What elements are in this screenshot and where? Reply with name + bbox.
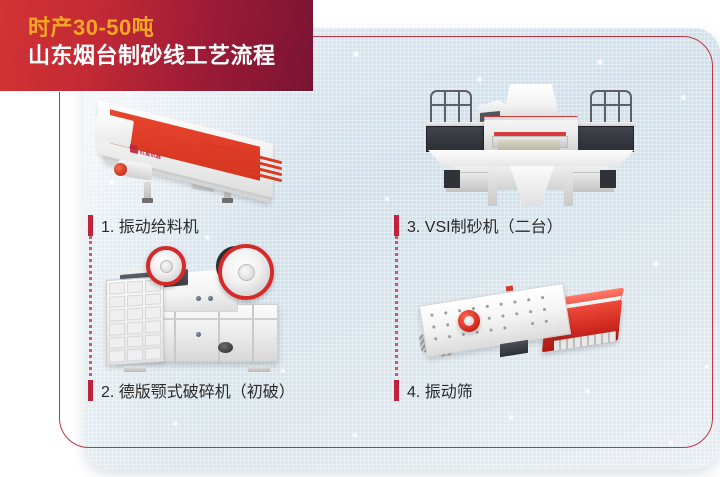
grid-cell xyxy=(127,280,143,293)
grid-cell xyxy=(109,282,125,295)
grid-cell xyxy=(145,348,161,361)
screen-bolt xyxy=(446,323,449,326)
crusher-foot-pad xyxy=(124,366,146,372)
vsi-platform-right xyxy=(576,126,634,152)
screen-bolt xyxy=(531,322,534,325)
crusher-bolt xyxy=(196,296,201,301)
screen-bolt xyxy=(503,326,506,329)
screen-bolt xyxy=(499,303,502,306)
screen-bolt xyxy=(515,312,518,315)
vsi-leg xyxy=(564,166,573,206)
screen-bolt xyxy=(529,310,532,313)
rail-post xyxy=(604,92,606,126)
screen-bolt xyxy=(541,296,544,299)
item-label-2: 2. 德版颚式破碎机（初破） xyxy=(88,378,295,402)
item-label-4: 4. 振动筛 xyxy=(394,378,473,402)
screen-bolt xyxy=(501,314,504,317)
item-label-1: 1. 振动给料机 xyxy=(88,213,199,237)
grid-cell xyxy=(127,294,143,307)
screen-bolt xyxy=(434,337,437,340)
screen-bolt xyxy=(444,311,447,314)
screen-bolt xyxy=(432,325,435,328)
crusher-bolt xyxy=(196,332,201,337)
screen-bolt xyxy=(472,307,475,310)
screen-bolt xyxy=(430,313,433,316)
machine-image-vibrating-screen xyxy=(418,272,634,374)
screen-bolt xyxy=(486,305,489,308)
screen-motor-hub xyxy=(464,316,474,326)
crusher-flywheel-hub xyxy=(238,264,255,281)
crusher-base-rib xyxy=(218,304,220,362)
screen-bolt xyxy=(489,328,492,331)
grid-cell xyxy=(109,336,125,349)
crusher-base-rib xyxy=(174,304,176,362)
rail-post xyxy=(618,92,620,126)
banner-capacity-text: 时产30-50吨 xyxy=(28,14,313,42)
grid-cell xyxy=(109,350,125,363)
brand-logo-mark xyxy=(130,144,138,154)
grid-cell xyxy=(145,320,161,333)
screen-bolt xyxy=(462,333,465,336)
grid-cell xyxy=(145,293,161,306)
machine-image-jaw-crusher xyxy=(100,246,296,372)
grid-cell xyxy=(127,335,143,348)
screen-bolt xyxy=(487,317,490,320)
item-label-3-text: 3. VSI制砂机（二台） xyxy=(407,213,563,237)
label-marker-bar xyxy=(88,380,93,401)
grid-cell xyxy=(145,307,161,320)
grid-cell xyxy=(109,309,125,322)
feeder-motor-cap xyxy=(114,163,127,176)
crusher-foot-pad xyxy=(248,366,270,372)
feeder-foot xyxy=(142,198,153,203)
crusher-flywheel-hub xyxy=(160,260,173,273)
feeder-foot xyxy=(222,198,233,203)
label-marker-bar xyxy=(394,215,399,236)
screen-bolt xyxy=(527,298,530,301)
item-label-2-text: 2. 德版颚式破碎机（初破） xyxy=(101,378,295,402)
screen-bolt xyxy=(513,300,516,303)
rail-post xyxy=(458,92,460,126)
vsi-platform-left xyxy=(426,126,484,152)
vsi-inspection-window xyxy=(498,140,560,150)
machine-image-vibrating-feeder: 红星机器 xyxy=(84,106,316,202)
vsi-red-stripe xyxy=(494,132,566,136)
screen-bolt xyxy=(475,331,478,334)
crusher-base-rib xyxy=(252,304,254,362)
rail-bar xyxy=(430,104,472,106)
crusher-access-hole xyxy=(218,342,233,353)
vsi-drum-band xyxy=(484,116,578,120)
vsi-base-vent xyxy=(600,170,616,188)
vsi-railing-left xyxy=(430,90,472,124)
rail-post xyxy=(444,92,446,126)
grid-cell xyxy=(145,334,161,347)
item-label-3: 3. VSI制砂机（二台） xyxy=(394,213,563,237)
grid-cell xyxy=(127,308,143,321)
banner-title-text: 山东烟台制砂线工艺流程 xyxy=(28,42,313,70)
screen-bolt xyxy=(448,335,451,338)
title-banner: 时产30-50吨 山东烟台制砂线工艺流程 xyxy=(0,0,313,91)
vsi-base-vent xyxy=(444,170,460,188)
label-marker-bar xyxy=(88,215,93,236)
item-label-4-text: 4. 振动筛 xyxy=(407,378,473,402)
grid-cell xyxy=(109,323,125,336)
screen-bolt xyxy=(545,320,548,323)
machine-image-vsi-sand-maker xyxy=(414,78,646,206)
rail-bar xyxy=(590,104,632,106)
crusher-bolt xyxy=(208,296,213,301)
grid-cell xyxy=(109,295,125,308)
screen-bolt xyxy=(543,308,546,311)
item-label-1-text: 1. 振动给料机 xyxy=(101,213,199,237)
connector-line-left xyxy=(89,236,92,376)
vsi-leg xyxy=(488,166,497,206)
crusher-side-grid xyxy=(106,276,164,366)
connector-line-right xyxy=(395,236,398,376)
screen-bolt xyxy=(458,309,461,312)
label-marker-bar xyxy=(394,380,399,401)
grid-cell xyxy=(127,349,143,362)
grid-cell xyxy=(127,321,143,334)
vsi-railing-right xyxy=(590,90,632,124)
